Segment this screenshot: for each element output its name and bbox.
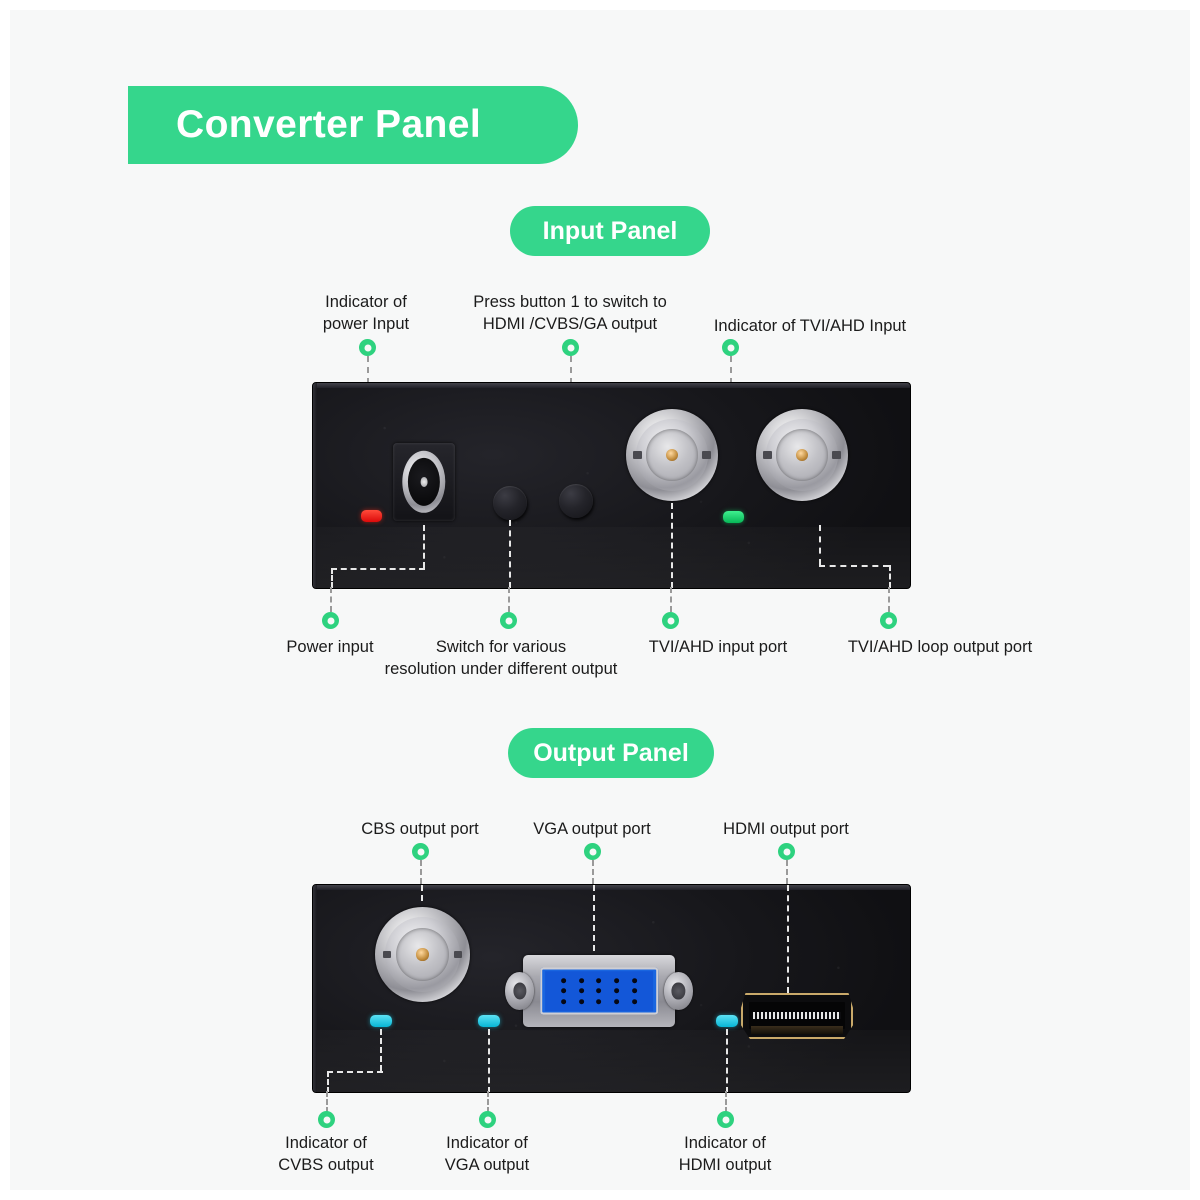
marker-cbs-output-port[interactable] — [412, 843, 429, 860]
label-switch-resolution: Switch for various resolution under diff… — [368, 636, 634, 680]
power-input-led — [361, 510, 382, 522]
leader-cvbs-led-down — [380, 1029, 382, 1071]
marker-indicator-vga-output[interactable] — [479, 1111, 496, 1128]
section-heading-output-panel: Output Panel — [508, 728, 714, 778]
leader-power-input-bottom — [330, 587, 332, 612]
dc-jack-center-pin — [421, 477, 428, 487]
input-panel-device — [312, 382, 911, 589]
bnc-input-port[interactable] — [626, 409, 718, 501]
marker-indicator-cvbs-output[interactable] — [318, 1111, 335, 1128]
section-heading-input-panel-label: Input Panel — [543, 217, 678, 246]
dc-power-jack[interactable] — [393, 443, 455, 521]
marker-hdmi-output-port[interactable] — [778, 843, 795, 860]
infographic-page: Converter Panel Input Panel Indicator of… — [0, 0, 1200, 1200]
label-hdmi-output-port: HDMI output port — [706, 818, 866, 840]
leader-cvbs-led-exit — [327, 1071, 329, 1093]
push-button-1[interactable] — [493, 486, 527, 520]
vga-output-port[interactable] — [501, 953, 697, 1029]
device-top-bevel — [313, 383, 910, 388]
leader-hdmi-led-exit — [726, 1029, 728, 1093]
leader-cvbs-led-across — [327, 1071, 383, 1073]
leader-cbs-top — [420, 860, 422, 884]
leader-loop-across — [819, 565, 889, 567]
tvi-ahd-input-led — [723, 511, 744, 523]
vga-inner-frame — [540, 967, 658, 1014]
leader-hdmi-top — [786, 860, 788, 884]
bnc-bayonet-slot-right — [832, 451, 840, 458]
marker-tvi-ahd-loop-output-port[interactable] — [880, 612, 897, 629]
leader-switch-bottom — [508, 587, 510, 612]
label-indicator-tvi-ahd-input: Indicator of TVI/AHD Input — [700, 315, 920, 337]
leader-hdmi-inside — [787, 885, 789, 993]
leader-vga-led-exit — [488, 1029, 490, 1093]
vga-pin-row-3 — [548, 999, 650, 1004]
device-left-bevel — [313, 885, 317, 1092]
marker-switch-resolution[interactable] — [500, 612, 517, 629]
vga-pin-row-1 — [548, 978, 650, 983]
leader-loop-down — [819, 525, 821, 565]
marker-power-input-port[interactable] — [322, 612, 339, 629]
marker-indicator-hdmi-output[interactable] — [717, 1111, 734, 1128]
leader-power-jack-across — [331, 568, 425, 570]
bnc-bayonet-slot-right — [454, 951, 463, 959]
device-top-bevel — [313, 885, 910, 890]
bnc-center-pin — [416, 948, 428, 960]
bnc-cvbs-output-port[interactable] — [375, 907, 470, 1002]
label-cbs-output-port: CBS output port — [340, 818, 500, 840]
marker-tvi-ahd-input-port[interactable] — [662, 612, 679, 629]
vga-output-led — [478, 1015, 500, 1027]
leader-cbs-inside — [421, 885, 423, 901]
leader-hdmi-bottom — [725, 1091, 727, 1113]
page-title-banner: Converter Panel — [128, 86, 578, 164]
bnc-center-pin — [666, 449, 678, 461]
bnc-bayonet-slot-left — [633, 451, 641, 458]
vga-screw-post-right — [664, 972, 693, 1010]
label-tvi-ahd-input-port: TVI/AHD input port — [618, 636, 818, 658]
leader-switch-exit — [509, 520, 511, 588]
leader-vga-bottom — [487, 1091, 489, 1113]
label-indicator-cvbs-output: Indicator of CVBS output — [246, 1132, 406, 1176]
label-vga-output-port: VGA output port — [512, 818, 672, 840]
bnc-center-pin — [796, 449, 808, 461]
hdmi-output-led — [716, 1015, 738, 1027]
marker-indicator-power-input[interactable] — [359, 339, 376, 356]
leader-vga-top — [592, 860, 594, 884]
leader-power-jack-down — [423, 525, 425, 568]
bnc-bayonet-slot-right — [702, 451, 710, 458]
bnc-bayonet-slot-left — [383, 951, 392, 959]
label-tvi-ahd-loop-output-port: TVI/AHD loop output port — [820, 636, 1060, 658]
output-panel-device — [312, 884, 911, 1093]
leader-cvbs-bottom — [326, 1091, 328, 1113]
leader-bnc-input-bottom — [670, 587, 672, 612]
leader-tvi-led-top — [730, 356, 732, 384]
page-title: Converter Panel — [128, 103, 481, 147]
vga-pin-row-2 — [548, 988, 650, 993]
hdmi-lower-lip — [751, 1026, 844, 1034]
label-indicator-hdmi-output: Indicator of HDMI output — [645, 1132, 805, 1176]
cvbs-output-led — [370, 1015, 392, 1027]
label-press-button-1: Press button 1 to switch to HDMI /CVBS/G… — [430, 291, 710, 335]
hdmi-output-port[interactable] — [741, 993, 853, 1039]
label-indicator-vga-output: Indicator of VGA output — [407, 1132, 567, 1176]
bnc-bayonet-slot-left — [763, 451, 771, 458]
marker-press-button-1[interactable] — [562, 339, 579, 356]
device-front-lip — [313, 1030, 910, 1092]
bnc-loop-output-port[interactable] — [756, 409, 848, 501]
section-heading-output-panel-label: Output Panel — [533, 739, 689, 768]
marker-vga-output-port[interactable] — [584, 843, 601, 860]
hdmi-contacts — [753, 1012, 842, 1019]
leader-loop-output-bottom — [888, 587, 890, 612]
vga-pin-field — [545, 971, 653, 1012]
device-left-bevel — [313, 383, 317, 588]
leader-button1-top — [570, 356, 572, 384]
leader-power-jack-exit — [331, 568, 333, 588]
push-button-2[interactable] — [559, 484, 593, 518]
marker-indicator-tvi-ahd-input[interactable] — [722, 339, 739, 356]
section-heading-input-panel: Input Panel — [510, 206, 710, 256]
leader-bnc-input-exit — [671, 503, 673, 588]
leader-loop-exit — [889, 565, 891, 588]
leader-power-input-top — [367, 356, 369, 384]
